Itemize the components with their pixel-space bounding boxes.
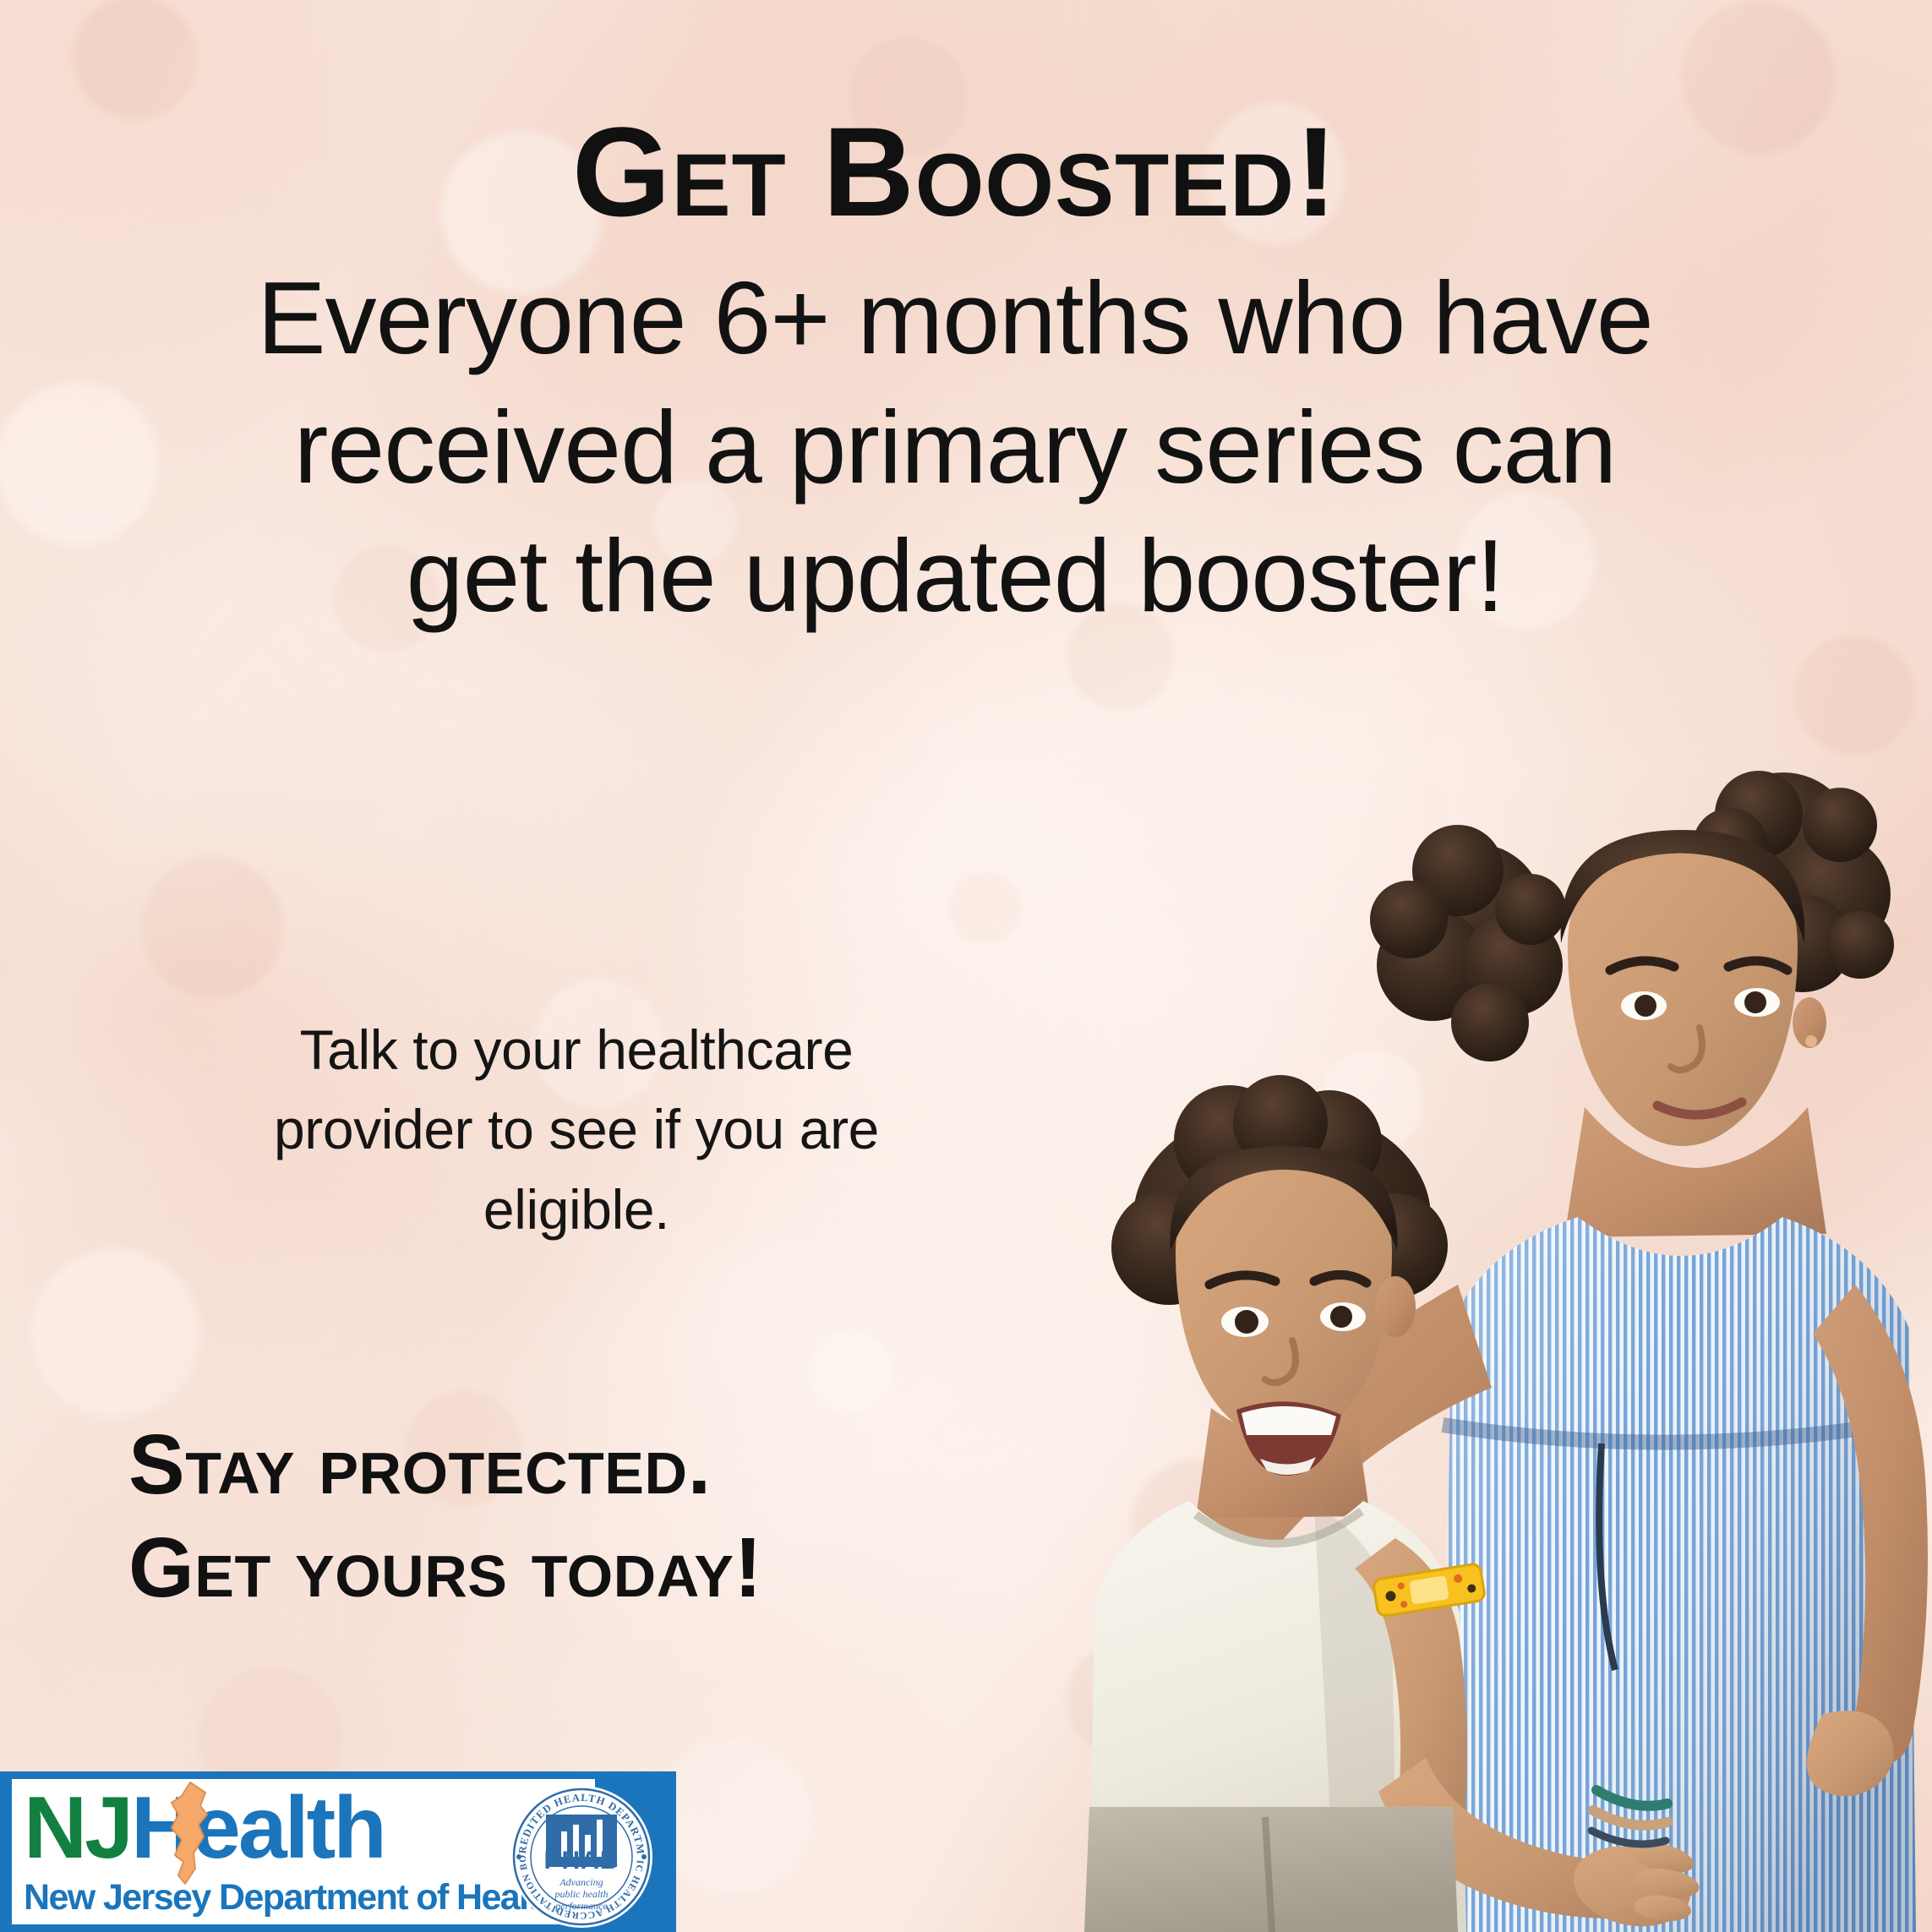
phab-accreditation-seal: ACCREDITED HEALTH DEPARTMENT PUBLIC HEAL… <box>509 1784 654 1929</box>
call-to-action-block: Stay protected. Get yours today! <box>128 1413 762 1619</box>
logo-nj-text: NJ <box>24 1779 131 1877</box>
phab-tagline-3: performance <box>554 1900 608 1912</box>
girl-earring <box>1805 1035 1817 1047</box>
phab-tagline-1: Advancing <box>559 1876 603 1888</box>
logo-tagline: New Jersey Department of Health <box>24 1877 559 1918</box>
new-jersey-state-outline-icon <box>156 1781 219 1887</box>
cta-line-stay-protected: Stay protected. <box>128 1413 762 1516</box>
headline-get-boosted: Get Boosted! <box>0 108 1910 235</box>
phab-tagline-2: public health <box>554 1888 609 1900</box>
nj-health-logo: NJHealth New Jersey Department of Health <box>0 1771 676 1932</box>
phab-acronym: PHAB <box>543 1847 619 1875</box>
boy-ear <box>1375 1276 1416 1337</box>
cta-line-get-yours-today: Get yours today! <box>128 1516 762 1619</box>
note-talk-to-provider: Talk to your healthcare provider to see … <box>196 1010 957 1249</box>
girl-pigtail-left <box>1370 825 1566 1062</box>
subheadline-eligibility: Everyone 6+ months who have received a p… <box>254 254 1656 641</box>
logo-inner-panel: NJHealth New Jersey Department of Health <box>12 1779 595 1924</box>
children-photo <box>1061 744 1932 1932</box>
poster-canvas: Get Boosted! Everyone 6+ months who have… <box>0 0 1932 1932</box>
